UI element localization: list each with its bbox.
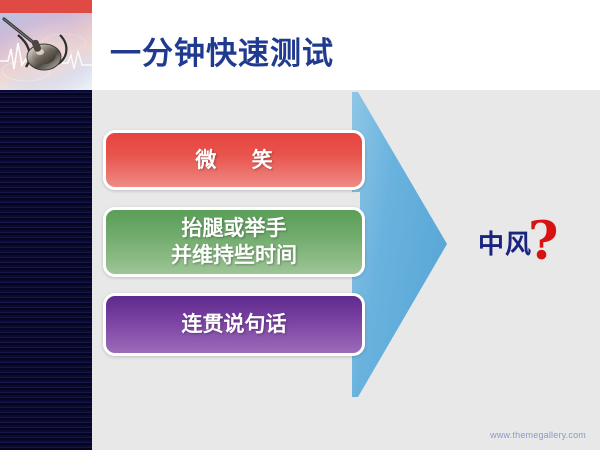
step-box-limb[interactable]: 抬腿或举手 并维持些时间 (103, 207, 365, 277)
slide-canvas: 一分钟快速测试 微 笑 抬腿或举手 并维持些时间 连贯说句话 中风 ? www (0, 0, 600, 450)
step-box-speech[interactable]: 连贯说句话 (103, 293, 365, 356)
left-sidebar-stripe (0, 90, 92, 450)
step-box-smile[interactable]: 微 笑 (103, 130, 365, 190)
step-label-line2: 并维持些时间 (171, 242, 297, 269)
result-callout: 中风 ? (478, 218, 558, 261)
page-title: 一分钟快速测试 (110, 28, 334, 73)
question-mark-icon: ? (528, 224, 558, 260)
stethoscope-ecg-photo (0, 13, 92, 91)
footer-url[interactable]: www.themegallery.com (490, 430, 586, 440)
right-arrow-shape (352, 92, 447, 397)
step-label: 连贯说句话 (182, 311, 287, 338)
step-label-line1: 抬腿或举手 (171, 215, 297, 242)
red-accent-bar (0, 0, 92, 13)
result-word: 中风 (478, 224, 532, 261)
step-label: 微 笑 (181, 147, 286, 174)
